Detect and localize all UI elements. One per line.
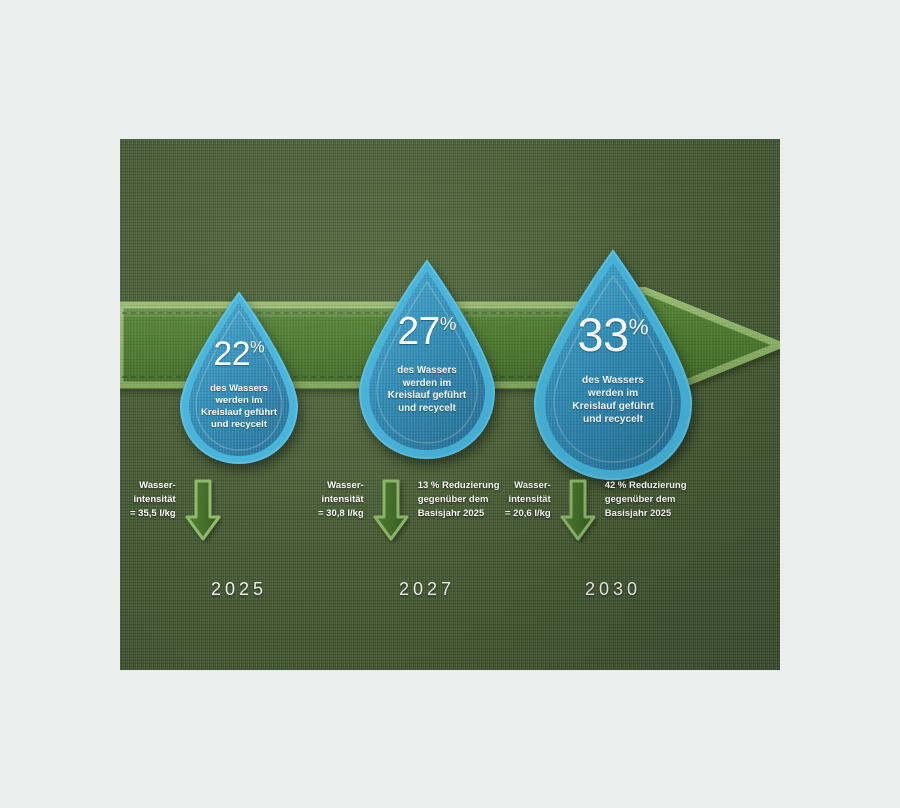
droplet-2030: 33% des Wassers werden im Kreislauf gefü…	[524, 247, 702, 487]
metric-intensity-2027: Wasser- intensität = 30,8 l/kg	[318, 477, 364, 520]
metric-intensity-2025: Wasser- intensität = 35,5 l/kg	[130, 477, 176, 520]
down-arrow-icon	[558, 477, 598, 548]
droplet-2027: 27% des Wassers werden im Kreislauf gefü…	[351, 257, 503, 465]
metric-reduction-2027: 13 % Reduzierung gegenüber dem Basisjahr…	[418, 477, 500, 520]
year-label-2027: 2027	[367, 579, 487, 600]
metric-reduction-2030: 42 % Reduzierung gegenüber dem Basisjahr…	[605, 477, 687, 520]
metric-intensity-2030: Wasser- intensität = 20,6 l/kg	[505, 477, 551, 520]
year-label-2030: 2030	[553, 579, 673, 600]
year-label-2025: 2025	[179, 579, 299, 600]
droplet-2025: 22% des Wassers werden im Kreislauf gefü…	[172, 289, 306, 469]
metric-2030: Wasser- intensität = 20,6 l/kg 42 % Redu…	[505, 477, 687, 548]
down-arrow-icon	[371, 477, 411, 548]
metric-2025: Wasser- intensität = 35,5 l/kg	[130, 477, 230, 548]
metric-2027: Wasser- intensität = 30,8 l/kg 13 % Redu…	[318, 477, 500, 548]
infographic-canvas: 22% des Wassers werden im Kreislauf gefü…	[120, 139, 780, 670]
down-arrow-icon	[183, 477, 223, 548]
